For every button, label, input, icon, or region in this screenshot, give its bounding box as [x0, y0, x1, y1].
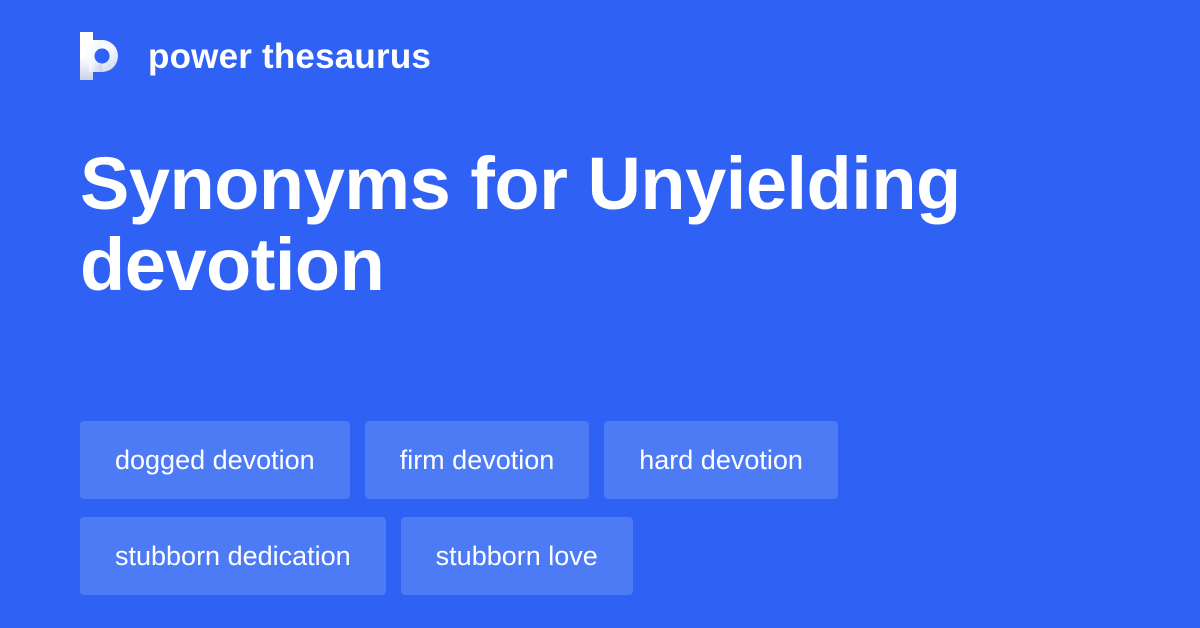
- synonym-chip[interactable]: firm devotion: [365, 421, 590, 499]
- brand-header[interactable]: power thesaurus: [80, 30, 431, 82]
- page-title-line-1: Synonyms for Unyielding: [80, 143, 1090, 224]
- page-title: Synonyms for Unyielding devotion: [80, 143, 1090, 306]
- power-thesaurus-b-logo-icon: [80, 32, 126, 80]
- synonym-chip-list: dogged devotion firm devotion hard devot…: [80, 421, 1120, 595]
- share-card: power thesaurus Synonyms for Unyielding …: [0, 0, 1200, 628]
- synonym-chip[interactable]: stubborn love: [401, 517, 633, 595]
- synonym-chip[interactable]: stubborn dedication: [80, 517, 386, 595]
- synonym-chip[interactable]: dogged devotion: [80, 421, 350, 499]
- brand-name: power thesaurus: [148, 39, 431, 74]
- synonym-chip[interactable]: hard devotion: [604, 421, 838, 499]
- page-title-line-2: devotion: [80, 224, 1090, 305]
